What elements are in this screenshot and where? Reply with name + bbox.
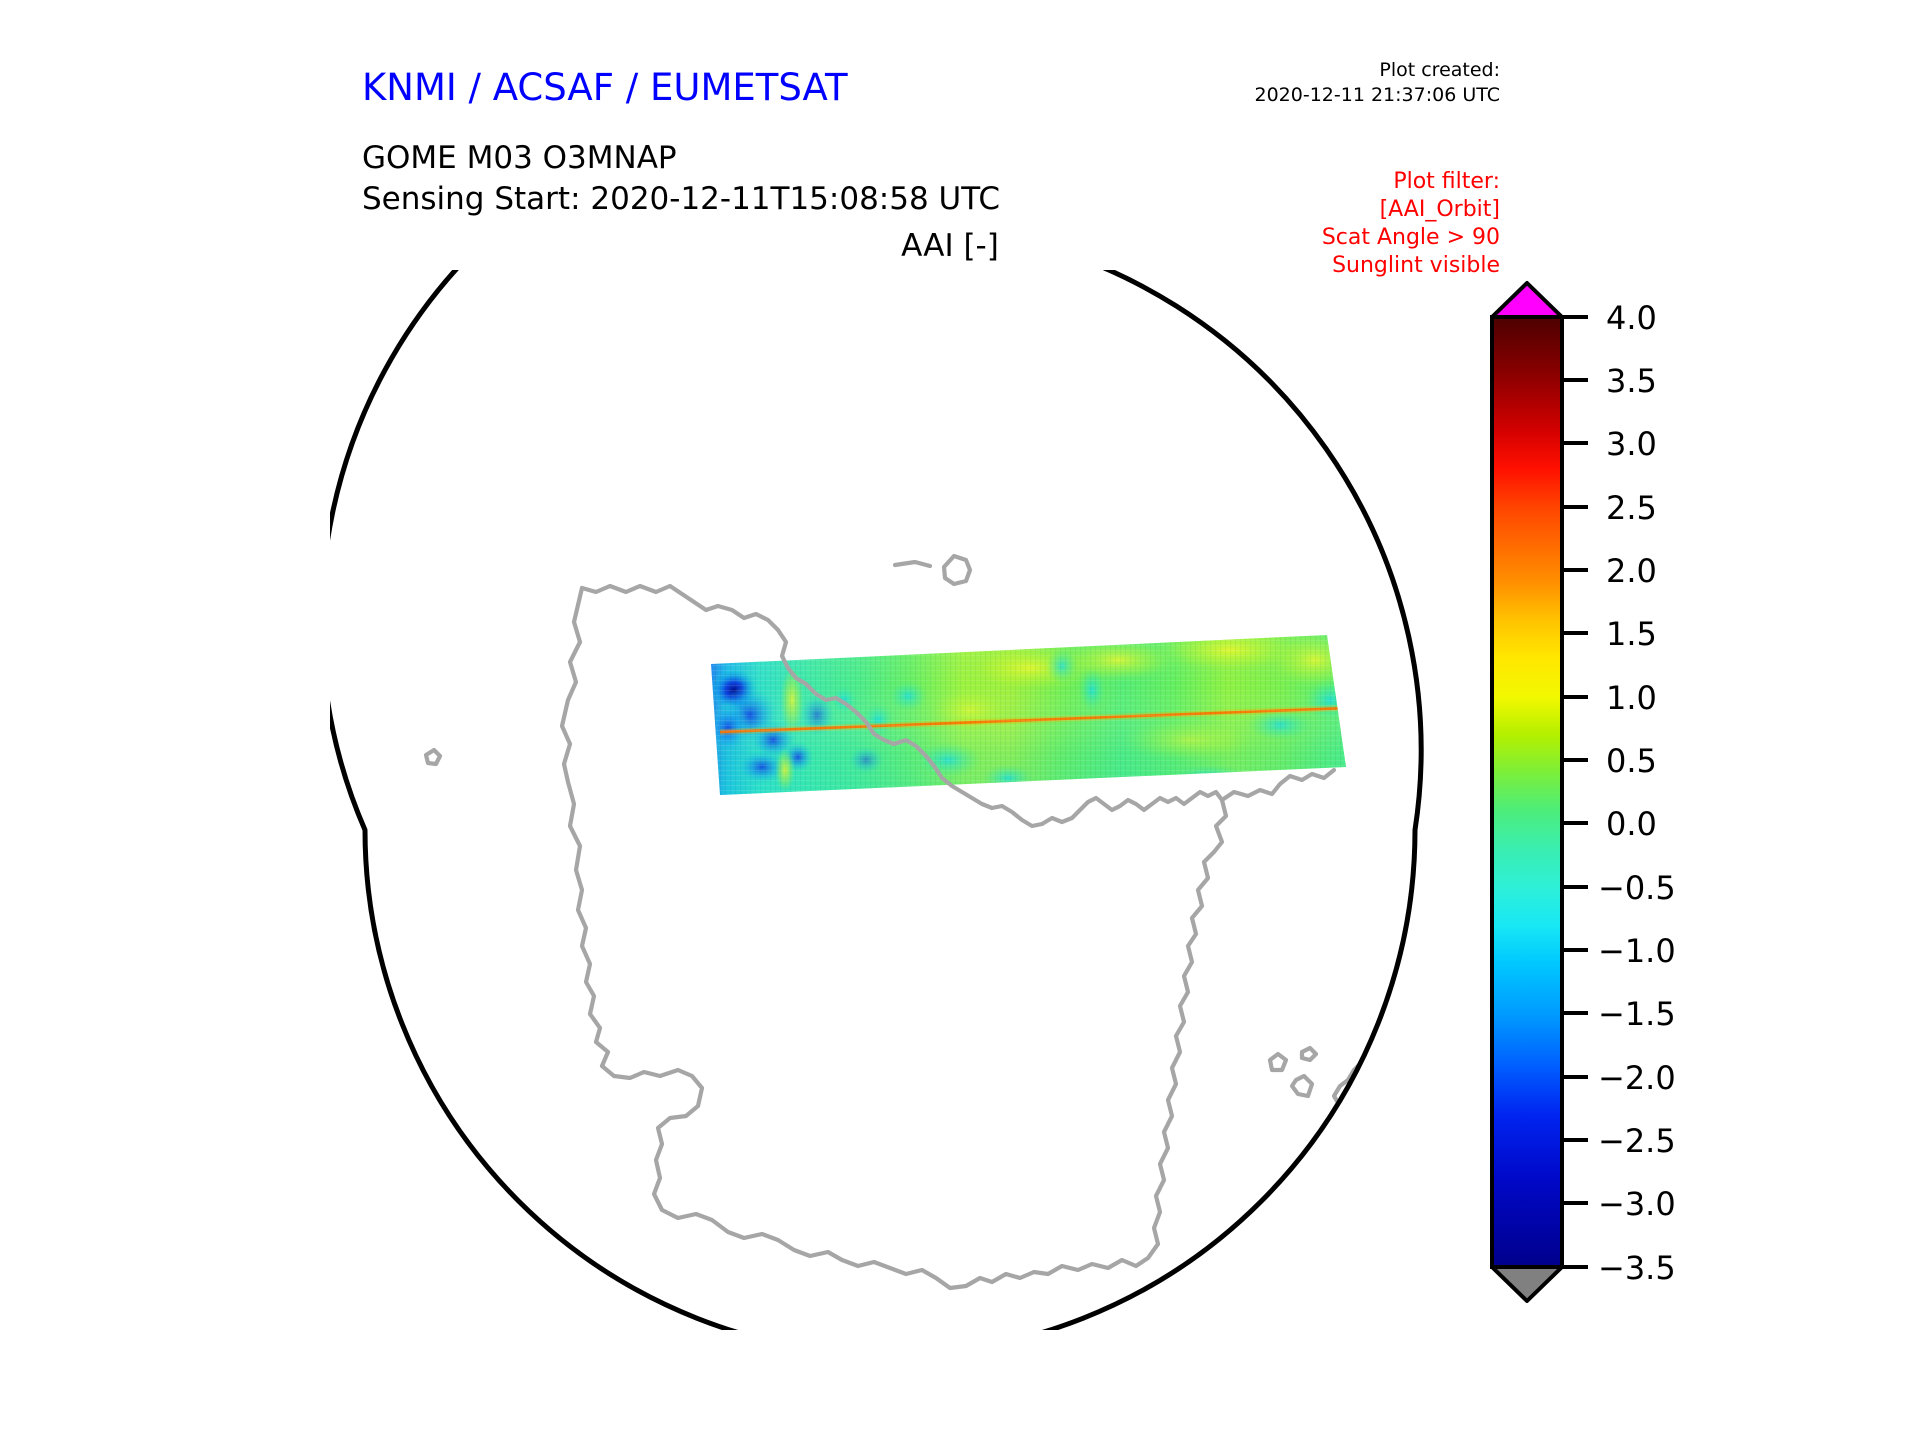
- colorbar-label-neg3.0: −3.0: [1598, 1185, 1676, 1223]
- product-title: GOME M03 O3MNAP: [362, 138, 1000, 179]
- colorbar-svg[interactable]: 4.0 3.5 3.0 2.5 2.0 1.5 1.0 0.5 0.0 −0.5…: [1480, 275, 1900, 1345]
- coastline-nz-north: [1438, 1126, 1482, 1160]
- colorbar-label-0.5: 0.5: [1606, 742, 1657, 780]
- map-plot-area: [330, 270, 1490, 1330]
- map-svg: [330, 270, 1490, 1330]
- colorbar-label-4.0: 4.0: [1606, 299, 1657, 337]
- colorbar-label-neg2.0: −2.0: [1598, 1059, 1676, 1097]
- figure-canvas: KNMI / ACSAF / EUMETSAT Plot created: 20…: [0, 0, 1920, 1440]
- colorbar-label-neg1.5: −1.5: [1598, 995, 1676, 1033]
- colorbar-label-1.0: 1.0: [1606, 679, 1657, 717]
- colorbar[interactable]: 4.0 3.5 3.0 2.5 2.0 1.5 1.0 0.5 0.0 −0.5…: [1480, 275, 1900, 1345]
- colorbar-gradient-bar: [1492, 317, 1562, 1267]
- plot-created-block: Plot created: 2020-12-11 21:37:06 UTC: [1080, 58, 1500, 108]
- colorbar-label-3.5: 3.5: [1606, 362, 1657, 400]
- colorbar-over-arrow: [1492, 283, 1562, 317]
- colorbar-ticks: [1562, 317, 1588, 1267]
- plot-filter-line-1: Plot filter:: [1150, 168, 1500, 196]
- coastline-australia-north: [1372, 1032, 1486, 1070]
- colorbar-label-neg2.5: −2.5: [1598, 1122, 1676, 1160]
- sensing-start-title: Sensing Start: 2020-12-11T15:08:58 UTC: [362, 179, 1000, 220]
- colorbar-label-1.5: 1.5: [1606, 615, 1657, 653]
- colorbar-label-2.5: 2.5: [1606, 489, 1657, 527]
- coastline-australia-east: [1354, 1060, 1468, 1208]
- colorbar-label-2.0: 2.0: [1606, 552, 1657, 590]
- colorbar-label-neg0.5: −0.5: [1598, 869, 1676, 907]
- plot-filter-line-3: Scat Angle > 90: [1150, 224, 1500, 252]
- plot-created-timestamp: 2020-12-11 21:37:06 UTC: [1080, 83, 1500, 108]
- main-title-block: GOME M03 O3MNAP Sensing Start: 2020-12-1…: [362, 138, 1000, 220]
- colorbar-tick-labels: 4.0 3.5 3.0 2.5 2.0 1.5 1.0 0.5 0.0 −0.5…: [1598, 299, 1676, 1287]
- coastline-tasmania: [1372, 1118, 1388, 1144]
- plot-filter-block: Plot filter: [AAI_Orbit] Scat Angle > 90…: [1150, 168, 1500, 280]
- colorbar-label-neg3.5: −3.5: [1598, 1249, 1676, 1287]
- colorbar-label-neg1.0: −1.0: [1598, 932, 1676, 970]
- plot-created-label: Plot created:: [1080, 58, 1500, 83]
- organisation-title: KNMI / ACSAF / EUMETSAT: [362, 66, 848, 109]
- colorbar-label-3.0: 3.0: [1606, 425, 1657, 463]
- plot-filter-line-2: [AAI_Orbit]: [1150, 196, 1500, 224]
- colorbar-under-arrow: [1492, 1267, 1562, 1301]
- colorbar-label-0.0: 0.0: [1606, 805, 1657, 843]
